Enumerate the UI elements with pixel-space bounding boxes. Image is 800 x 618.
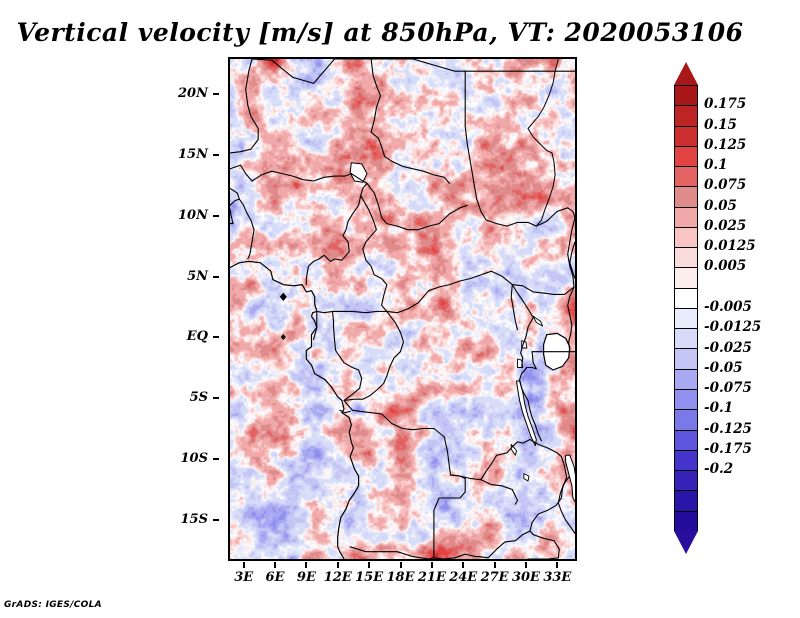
border-angola-drc [344,401,451,475]
colorbar-cap-top [674,62,698,85]
lake-chad [350,163,367,183]
border-cameroon-gabon-congo [317,311,387,312]
lon-tick-mark [274,562,276,568]
colorbar-label: 0.0125 [704,238,756,254]
lon-tick-mark [305,562,307,568]
colorbar-band [675,491,697,511]
border-angola-zambia [434,475,465,558]
attribution-footer: GrADS: IGES/COLA [4,600,102,610]
colorbar-label: 0.1 [704,157,728,173]
colorbar-band [675,451,697,471]
colorbar-band [675,370,697,390]
colorbar-band [675,390,697,410]
border-burkina-benin [230,199,239,205]
border-uganda-drc [512,285,533,367]
colorbar-label: -0.1 [704,400,733,416]
border-namibia-botswana [434,554,479,559]
colorbar-label: -0.025 [704,340,752,356]
island-bioko [280,293,286,300]
longitude-axis-labels: 3E6E9E12E15E18E21E24E27E30E33E [228,562,573,582]
lat-tick-mark [213,336,219,338]
colorbar-label: 0.05 [704,198,737,214]
border-libya-egypt [371,59,465,71]
colorbar-band [675,289,697,309]
colorbar-band [675,309,697,329]
colorbar-label: -0.125 [704,421,752,437]
colorbar-band [675,86,697,106]
lon-tick-mark [337,562,339,568]
colorbar-band [675,228,697,248]
border-angola-namibia [350,547,434,559]
colorbar-band [675,187,697,207]
border-mali-niger-south [230,165,252,181]
colorbar-band [675,471,697,491]
border-zambia-drc-south [451,475,518,504]
colorbar-band [675,329,697,349]
lon-tick-mark [462,562,464,568]
colorbar-label: 0.005 [704,258,746,274]
border-car-drc [387,271,513,313]
lon-tick-mark [400,562,402,568]
lon-tick-mark [243,562,245,568]
colorbar [670,60,702,556]
colorbar-label: -0.0125 [704,319,761,335]
colorbar-tick-labels: 0.1750.150.1250.10.0750.050.0250.01250.0… [702,60,798,560]
lon-tick-mark [368,562,370,568]
lat-tick-mark [213,458,219,460]
border-algeria-libya [252,59,335,83]
island-sao-tome [281,335,285,340]
map-plot-area [228,57,577,561]
lat-tick-mark [213,397,219,399]
colorbar-band [675,248,697,268]
border-congo-drc [344,311,404,400]
border-nigeria-cameroon [306,174,367,285]
colorbar-band [675,147,697,167]
lat-tick-label: 10S [181,451,208,466]
colorbar-cap-bottom [674,531,698,554]
lon-tick-mark [431,562,433,568]
latitude-axis-labels: 20N15N10N5NEQ5S10S15S [168,57,220,557]
colorbar-band [675,167,697,187]
border-rwanda-burundi-tanzania [520,352,537,393]
lat-tick-mark [213,276,219,278]
colorbar-band [675,431,697,451]
lon-tick-mark [556,562,558,568]
lon-tick-label: 33E [533,570,581,585]
colorbar-band [675,127,697,147]
colorbar-label: -0.005 [704,299,752,315]
lake-albert [533,316,542,326]
cabinda-enclave [340,410,350,413]
lat-tick-mark [213,519,219,521]
lon-tick-mark [494,562,496,568]
colorbar-label: 0.025 [704,218,746,234]
colorbar-bands [674,85,698,531]
lon-tick-mark [525,562,527,568]
colorbar-label: 0.15 [704,117,737,133]
colorbar-label: -0.05 [704,360,742,376]
map-overlay-borders [230,59,575,559]
page-title: Vertical velocity [m/s] at 850hPa, VT: 2… [0,18,760,47]
lat-tick-label: 15N [178,147,208,162]
lake-tanganyika [517,381,537,446]
colorbar-label: 0.175 [704,96,746,112]
border-zambia-malawi-moz [530,457,567,535]
colorbar-band [675,512,697,532]
border-zimbabwe-mozambique [533,535,559,558]
border-togo-benin [230,209,233,224]
border-zambia-zimbabwe [479,531,530,558]
border-southsudan-uganda [512,285,574,295]
lat-tick-label: 15S [181,512,208,527]
border-mali-niger [230,59,258,153]
colorbar-band [675,268,697,288]
border-eq-guinea [314,311,317,339]
border-sudan-chad-car [465,71,507,226]
border-chad-sudan [371,59,449,183]
border-south-edge [528,558,558,559]
border-southsudan-sudan [507,208,575,226]
border-zambia-tanzania [481,440,562,480]
colorbar-band [675,349,697,369]
lat-tick-mark [213,93,219,95]
border-uganda-kenya [568,287,574,352]
border-niger-nigeria [252,171,351,181]
colorbar-band [675,106,697,126]
border-gabon-congo [333,311,362,400]
lat-tick-label: 5S [190,390,208,405]
colorbar-label: 0.125 [704,137,746,153]
colorbar-band [675,410,697,430]
lat-tick-label: 20N [178,86,208,101]
lat-tick-label: EQ [187,329,208,344]
lat-tick-label: 10N [178,208,208,223]
border-chad-car [367,183,467,229]
river-nile [528,59,558,226]
lake-bangweulu [524,474,529,481]
lat-tick-mark [213,154,219,156]
lat-tick-label: 5N [187,269,208,284]
lat-tick-mark [213,215,219,217]
colorbar-label: 0.075 [704,177,746,193]
colorbar-band [675,208,697,228]
colorbar-label: -0.175 [704,441,752,457]
border-cameroon-car [361,196,387,312]
colorbar-label: -0.2 [704,461,733,477]
colorbar-label: -0.075 [704,380,752,396]
